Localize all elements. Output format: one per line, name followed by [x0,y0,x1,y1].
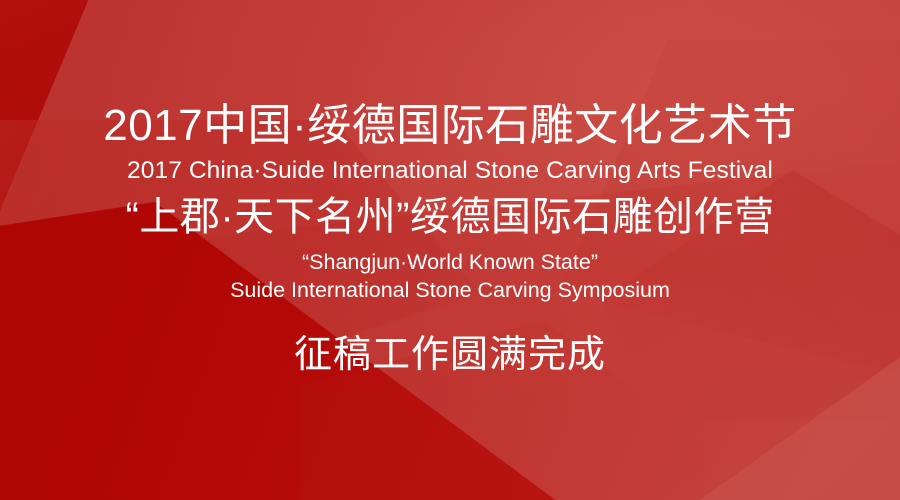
festival-title-chinese: 2017中国·绥德国际石雕文化艺术节 [103,101,797,151]
submission-status-chinese: 征稿工作圆满完成 [294,332,606,378]
symposium-slogan-english: “Shangjun·World Known State” [302,249,598,275]
banner-content: 2017中国·绥德国际石雕文化艺术节 2017 China·Suide Inte… [0,0,900,500]
festival-title-english: 2017 China·Suide International Stone Car… [127,157,773,185]
symposium-name-english: Suide International Stone Carving Sympos… [230,277,670,303]
symposium-title-chinese: “上郡·天下名州”绥德国际石雕创作营 [126,194,775,240]
event-banner: 2017中国·绥德国际石雕文化艺术节 2017 China·Suide Inte… [0,0,900,500]
